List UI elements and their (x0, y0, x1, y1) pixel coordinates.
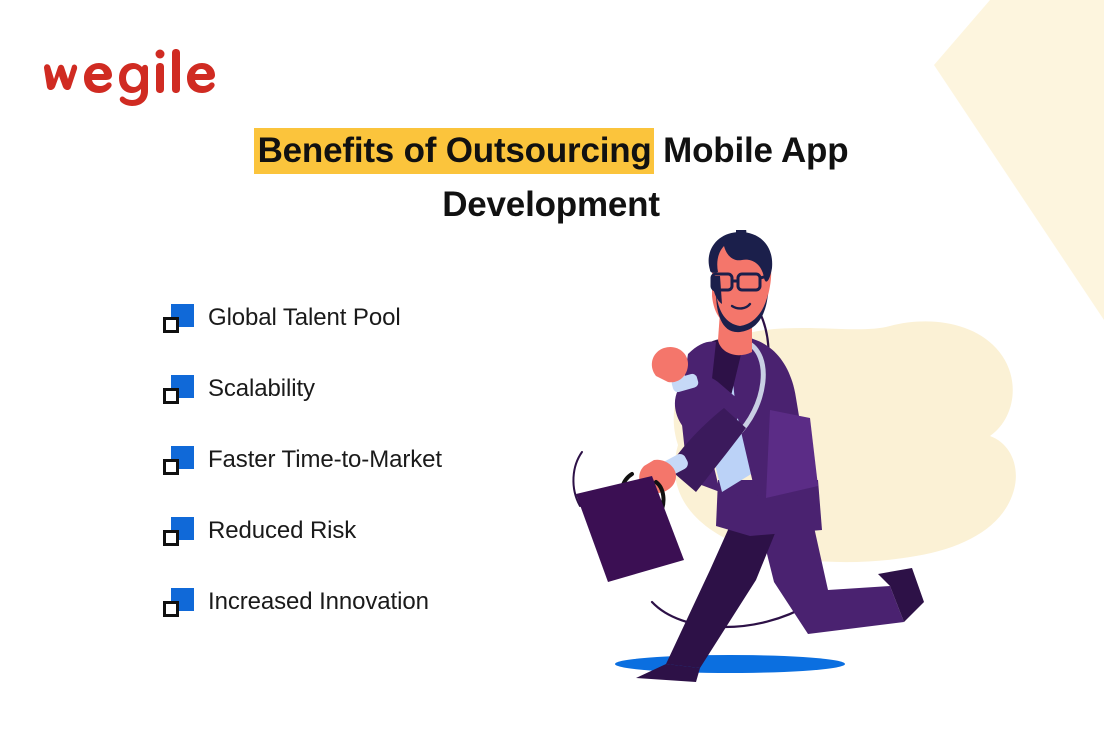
list-item-label: Scalability (208, 374, 315, 404)
title-line-2: Development (186, 178, 916, 232)
running-businessman-illustration (560, 230, 1040, 690)
briefcase (576, 476, 684, 582)
list-item-label: Faster Time-to-Market (208, 445, 442, 475)
infographic-canvas: Benefits of Outsourcing Mobile App Devel… (0, 0, 1104, 736)
title-rest: Mobile App (654, 131, 849, 170)
list-item[interactable]: Global Talent Pool (163, 303, 593, 374)
front-fist (652, 347, 688, 382)
double-square-bullet-icon (163, 517, 196, 550)
bullet-outline-square (163, 317, 179, 333)
title-highlight: Benefits of Outsourcing (254, 128, 654, 174)
bullet-outline-square (163, 530, 179, 546)
double-square-bullet-icon (163, 446, 196, 479)
double-square-bullet-icon (163, 304, 196, 337)
list-item[interactable]: Faster Time-to-Market (163, 445, 593, 516)
title-line-1: Benefits of Outsourcing Mobile App (186, 124, 916, 178)
bullet-outline-square (163, 459, 179, 475)
list-item[interactable]: Increased Innovation (163, 587, 593, 658)
list-item-label: Increased Innovation (208, 587, 429, 617)
double-square-bullet-icon (163, 375, 196, 408)
double-square-bullet-icon (163, 588, 196, 621)
list-item[interactable]: Reduced Risk (163, 516, 593, 587)
benefits-list: Global Talent Pool Scalability Faster Ti… (163, 303, 593, 658)
bullet-outline-square (163, 388, 179, 404)
ground-shadow (615, 655, 845, 673)
jacket-tail (766, 410, 818, 498)
list-item-label: Global Talent Pool (208, 303, 401, 333)
bullet-outline-square (163, 601, 179, 617)
wegile-logo[interactable] (40, 46, 220, 106)
list-item-label: Reduced Risk (208, 516, 356, 546)
list-item[interactable]: Scalability (163, 374, 593, 445)
page-title: Benefits of Outsourcing Mobile App Devel… (186, 124, 916, 232)
